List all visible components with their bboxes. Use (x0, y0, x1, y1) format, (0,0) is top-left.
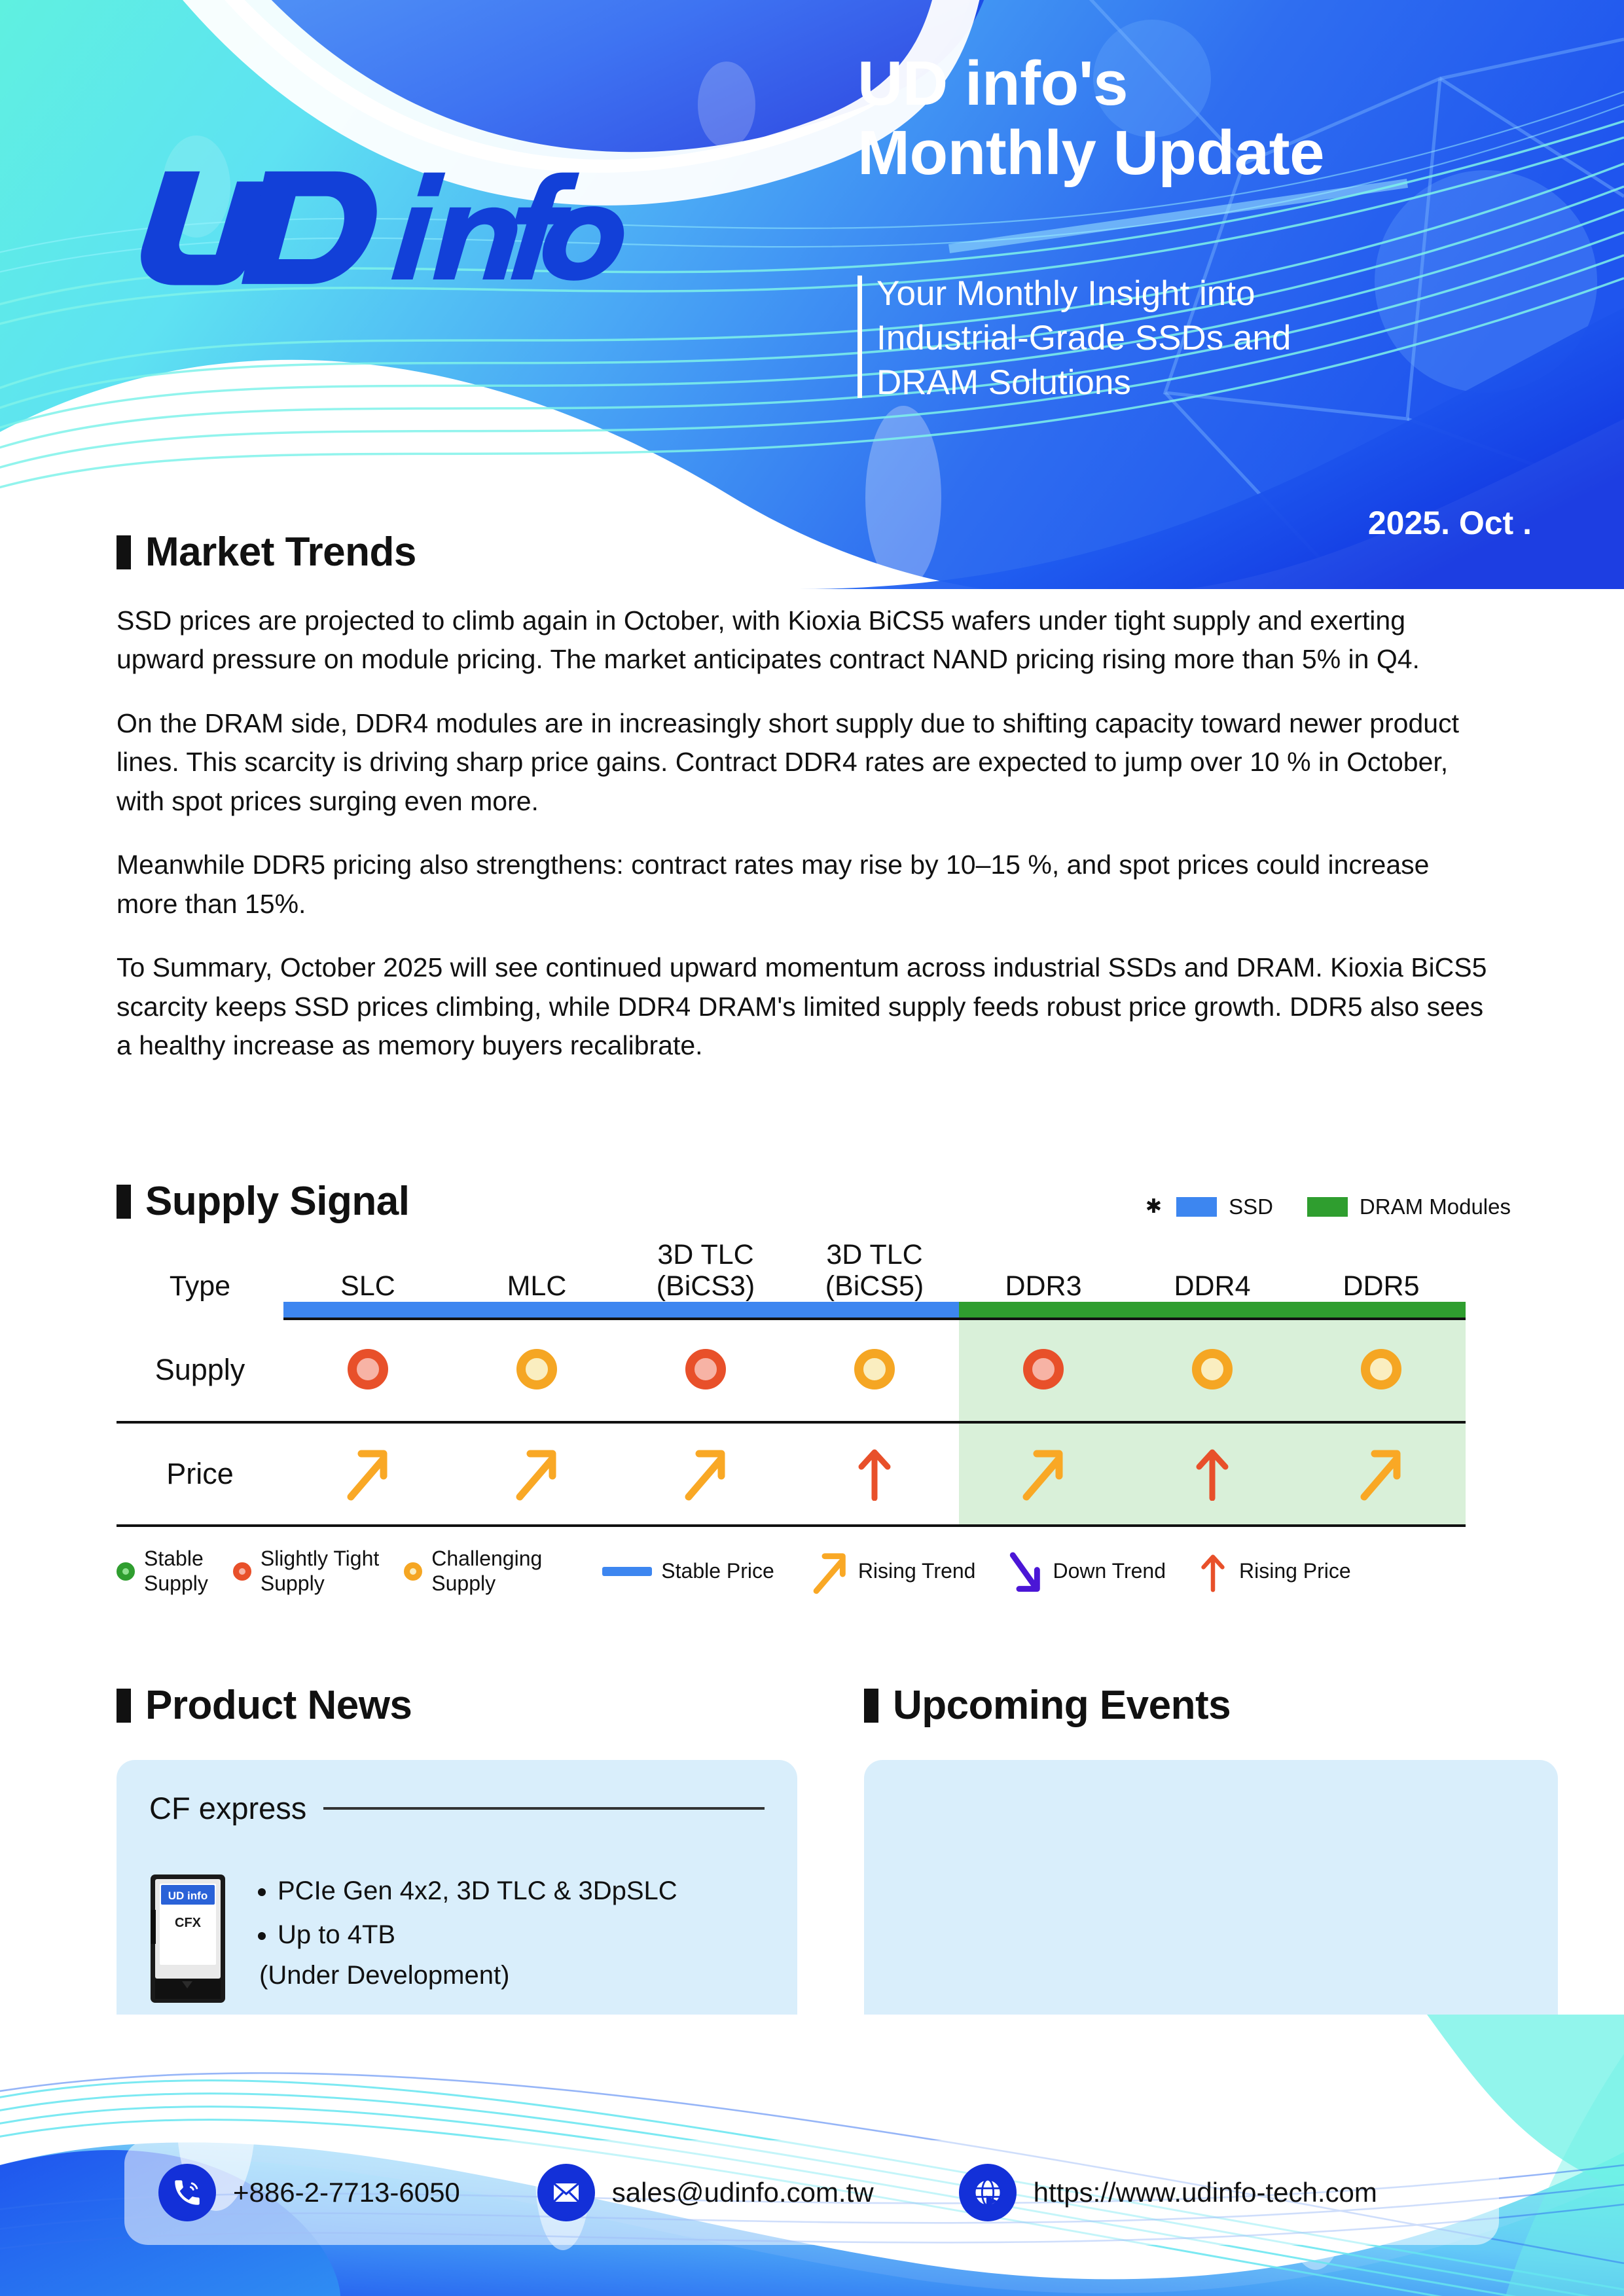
stable-price-line-icon (602, 1567, 652, 1576)
column-header-mlc: MLC (452, 1239, 621, 1302)
phone-number: +886-2-7713-6050 (233, 2177, 460, 2208)
newsletter-page: UD info's Monthly Update Your Monthly In… (0, 0, 1624, 2296)
price-cell-bics5 (790, 1422, 959, 1526)
contact-email[interactable]: sales@udinfo.com.tw (537, 2164, 874, 2221)
column-header-ddr5: DDR5 (1297, 1239, 1466, 1302)
market-trends-paragraph: On the DRAM side, DDR4 modules are in in… (117, 704, 1491, 821)
page-header: UD info's Monthly Update Your Monthly In… (0, 0, 1624, 589)
page-title-line2: Monthly Update (857, 118, 1564, 188)
rising-price-arrow-icon (1189, 1444, 1236, 1501)
ssd-legend-label: SSD (1229, 1194, 1273, 1219)
supply-signal-group-legend: ✱ SSD DRAM Modules (1146, 1194, 1511, 1225)
globe-icon (959, 2164, 1017, 2221)
table-header-row: Type SLC MLC 3D TLC (BiCS3) 3D TLC (BiCS… (117, 1239, 1466, 1302)
svg-text:UD info: UD info (168, 1890, 208, 1902)
price-cell-slc (283, 1422, 452, 1526)
slightly-tight-supply-icon (1023, 1349, 1064, 1390)
rising-trend-arrow-icon (1020, 1444, 1067, 1501)
legend-label: Down Trend (1053, 1559, 1166, 1584)
bar-cell-ddr4 (1128, 1302, 1297, 1319)
group-color-bar-row (117, 1302, 1466, 1319)
ud-info-logo (121, 167, 645, 291)
product-news-section: Product News CF express UD info CFX (117, 1682, 889, 2041)
supply-cell-bics3 (621, 1319, 790, 1422)
email-address: sales@udinfo.com.tw (612, 2177, 874, 2208)
legend-label: Rising Trend (858, 1559, 976, 1584)
bar-cell-bics5 (790, 1302, 959, 1319)
bar-cell-type (117, 1302, 283, 1319)
upcoming-events-section: Upcoming Events (864, 1682, 1558, 2041)
legend-label: Supply (431, 1571, 542, 1596)
legend-rising-trend: Rising Trend (811, 1548, 976, 1595)
product-bullet: PCIe Gen 4x2, 3D TLC & 3DpSLC (278, 1873, 677, 1909)
price-cell-mlc (452, 1422, 621, 1526)
product-development-note: (Under Development) (259, 1961, 677, 1990)
market-trends-section: Market Trends SSD prices are projected t… (117, 529, 1530, 1090)
square-bullet-icon (117, 1185, 131, 1219)
challenging-supply-icon (1192, 1349, 1233, 1390)
column-header-3dtlc-bics3: 3D TLC (BiCS3) (621, 1239, 790, 1302)
bar-cell-ddr3 (959, 1302, 1128, 1319)
legend-down-trend: Down Trend (1005, 1548, 1166, 1595)
price-cell-bics3 (621, 1422, 790, 1526)
cfexpress-card-image: UD info CFX (149, 1873, 226, 2004)
square-bullet-icon (117, 535, 131, 569)
stable-supply-icon (117, 1562, 135, 1581)
column-header-3dtlc-bics5: 3D TLC (BiCS5) (790, 1239, 959, 1302)
column-header-slc: SLC (283, 1239, 452, 1302)
square-bullet-icon (864, 1689, 878, 1723)
table-row-price: Price (117, 1422, 1466, 1526)
row-label-supply: Supply (117, 1319, 283, 1422)
svg-text:CFX: CFX (175, 1916, 202, 1930)
slightly-tight-supply-icon (348, 1349, 388, 1390)
subtitle-line3: DRAM Solutions (876, 361, 1291, 405)
legend-stable-price: Stable Price (602, 1559, 774, 1584)
rising-trend-arrow-icon (1358, 1444, 1405, 1501)
supply-cell-ddr4 (1128, 1319, 1297, 1422)
upcoming-events-card[interactable] (864, 1760, 1558, 2041)
column-header-ddr3: DDR3 (959, 1239, 1128, 1302)
price-cell-ddr4 (1128, 1422, 1297, 1526)
contact-bar: +886-2-7713-6050 sales@udinfo.com.tw (124, 2140, 1499, 2245)
slightly-tight-supply-icon (233, 1562, 251, 1581)
subtitle-accent-bar (857, 276, 862, 398)
product-news-title: Product News (145, 1682, 412, 1729)
challenging-supply-icon (1361, 1349, 1401, 1390)
challenging-supply-icon (516, 1349, 557, 1390)
market-trends-paragraph: Meanwhile DDR5 pricing also strengthens:… (117, 846, 1491, 924)
supply-signal-title: Supply Signal (145, 1178, 409, 1225)
rising-trend-arrow-icon (513, 1444, 560, 1501)
star-icon: ✱ (1146, 1197, 1162, 1217)
rising-trend-arrow-icon (344, 1444, 391, 1501)
legend-label: Stable (144, 1547, 208, 1571)
mail-icon (537, 2164, 595, 2221)
legend-label: Challenging (431, 1547, 542, 1571)
rising-trend-arrow-icon (811, 1548, 849, 1595)
legend-label: Supply (261, 1571, 379, 1596)
website-url: https://www.udinfo-tech.com (1034, 2177, 1377, 2208)
slightly-tight-supply-icon (685, 1349, 726, 1390)
page-title: UD info's Monthly Update (857, 49, 1564, 187)
challenging-supply-icon (854, 1349, 895, 1390)
market-trends-paragraph: To Summary, October 2025 will see contin… (117, 948, 1491, 1065)
bar-cell-mlc (452, 1302, 621, 1319)
product-bullet: Up to 4TB (278, 1917, 677, 1953)
supply-cell-bics5 (790, 1319, 959, 1422)
down-trend-arrow-icon (1005, 1548, 1043, 1595)
supply-cell-slc (283, 1319, 452, 1422)
supply-cell-ddr5 (1297, 1319, 1466, 1422)
challenging-supply-icon (404, 1562, 422, 1581)
legend-label: Stable Price (661, 1559, 774, 1584)
legend-label: Supply (144, 1571, 208, 1596)
supply-cell-ddr3 (959, 1319, 1128, 1422)
market-trends-title: Market Trends (145, 529, 416, 575)
row-label-price: Price (117, 1422, 283, 1526)
supply-cell-mlc (452, 1319, 621, 1422)
legend-challenging-supply: Challenging Supply (404, 1547, 542, 1596)
supply-signal-section: Supply Signal ✱ SSD DRAM Modules Type SL (117, 1178, 1530, 1596)
market-trends-heading: Market Trends (117, 529, 1530, 575)
rising-trend-arrow-icon (682, 1444, 729, 1501)
legend-label: Slightly Tight (261, 1547, 379, 1571)
dram-color-swatch (1307, 1197, 1348, 1217)
ssd-color-swatch (1176, 1197, 1217, 1217)
column-header-ddr4: DDR4 (1128, 1239, 1297, 1302)
legend-stable-supply: Stable Supply (117, 1547, 208, 1596)
upcoming-events-title: Upcoming Events (893, 1682, 1231, 1729)
contact-website[interactable]: https://www.udinfo-tech.com (959, 2164, 1377, 2221)
upcoming-events-heading: Upcoming Events (864, 1682, 1558, 1729)
product-card-title: CF express (149, 1790, 306, 1826)
supply-signal-heading: Supply Signal (117, 1178, 409, 1225)
page-subtitle: Your Monthly Insight into Industrial-Gra… (857, 272, 1551, 404)
page-footer: +886-2-7713-6050 sales@udinfo.com.tw (0, 2015, 1624, 2296)
contact-phone[interactable]: +886-2-7713-6050 (158, 2164, 460, 2221)
dram-legend-label: DRAM Modules (1360, 1194, 1511, 1219)
price-cell-ddr5 (1297, 1422, 1466, 1526)
supply-signal-table: Type SLC MLC 3D TLC (BiCS3) 3D TLC (BiCS… (117, 1239, 1466, 1527)
table-row-supply: Supply (117, 1319, 1466, 1422)
subtitle-line1: Your Monthly Insight into (876, 272, 1291, 316)
rising-price-arrow-icon (851, 1444, 898, 1501)
page-title-line1: UD info's (857, 49, 1564, 118)
square-bullet-icon (117, 1689, 131, 1723)
legend-slightly-tight-supply: Slightly Tight Supply (233, 1547, 379, 1596)
market-trends-paragraph: SSD prices are projected to climb again … (117, 601, 1491, 679)
market-trends-body: SSD prices are projected to climb again … (117, 601, 1530, 1065)
legend-rising-price: Rising Price (1196, 1548, 1351, 1595)
bar-cell-bics3 (621, 1302, 790, 1319)
phone-icon (158, 2164, 216, 2221)
bar-cell-slc (283, 1302, 452, 1319)
rising-price-arrow-icon (1196, 1548, 1230, 1595)
product-news-heading: Product News (117, 1682, 889, 1729)
title-divider (323, 1807, 765, 1810)
price-cell-ddr3 (959, 1422, 1128, 1526)
subtitle-line2: Industrial-Grade SSDs and (876, 316, 1291, 361)
supply-signal-legend: Stable Supply Slightly Tight Supply Chal… (117, 1547, 1511, 1596)
legend-label: Rising Price (1239, 1559, 1351, 1584)
column-header-type: Type (117, 1239, 283, 1302)
bar-cell-ddr5 (1297, 1302, 1466, 1319)
product-news-card[interactable]: CF express UD info CFX PCIe Ge (117, 1760, 797, 2041)
